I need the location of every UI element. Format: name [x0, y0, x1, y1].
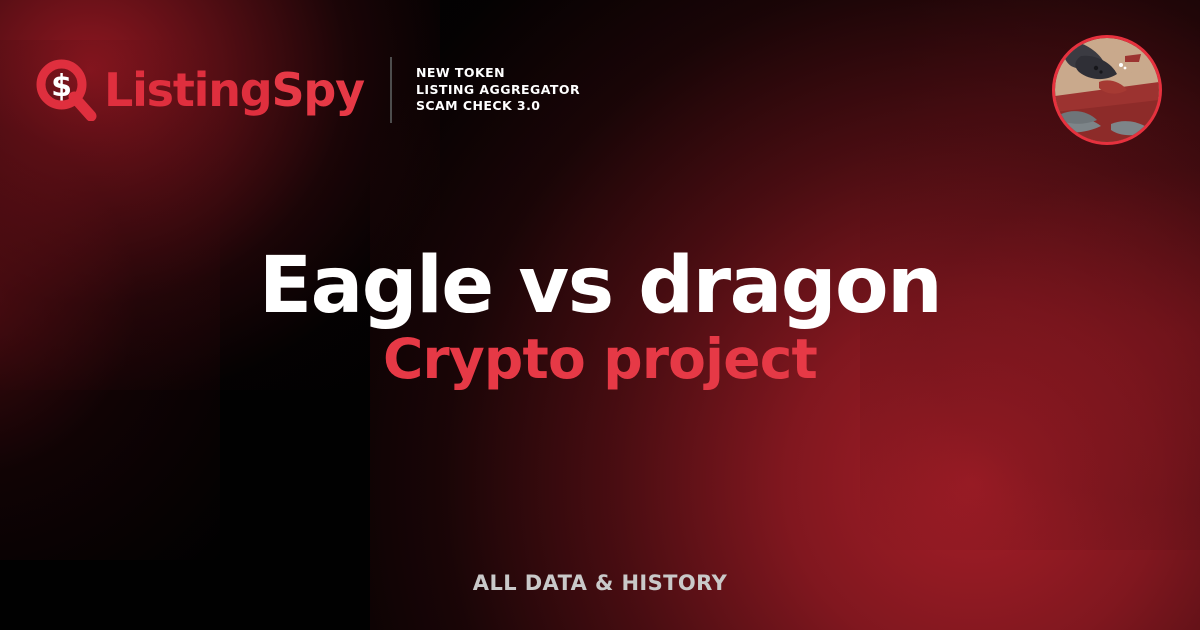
tagline-line-3: SCAM CHECK 3.0	[416, 98, 580, 115]
banner-canvas: $ ListingSpy NEW TOKEN LISTING AGGREGATO…	[0, 0, 1200, 630]
tagline-line-1: NEW TOKEN	[416, 65, 580, 82]
token-avatar[interactable]	[1052, 35, 1162, 145]
footer-caption: ALL DATA & HISTORY	[0, 571, 1200, 595]
brand-header[interactable]: $ ListingSpy NEW TOKEN LISTING AGGREGATO…	[36, 52, 580, 128]
page-title: Eagle vs dragon	[0, 244, 1200, 328]
background-glow-top-right	[900, 0, 1200, 240]
brand-wordmark: ListingSpy	[104, 67, 364, 113]
brand-wordmark-spy: Spy	[272, 63, 364, 117]
header-divider	[390, 57, 392, 123]
brand-wordmark-listing: Listing	[104, 63, 272, 117]
tagline-line-2: LISTING AGGREGATOR	[416, 82, 580, 99]
brand-tagline: NEW TOKEN LISTING AGGREGATOR SCAM CHECK …	[416, 65, 580, 115]
page-subtitle: Crypto project	[0, 328, 1200, 390]
svg-text:$: $	[51, 69, 72, 104]
magnifier-dollar-icon: $	[36, 59, 98, 121]
hero-block: Eagle vs dragon Crypto project	[0, 244, 1200, 390]
